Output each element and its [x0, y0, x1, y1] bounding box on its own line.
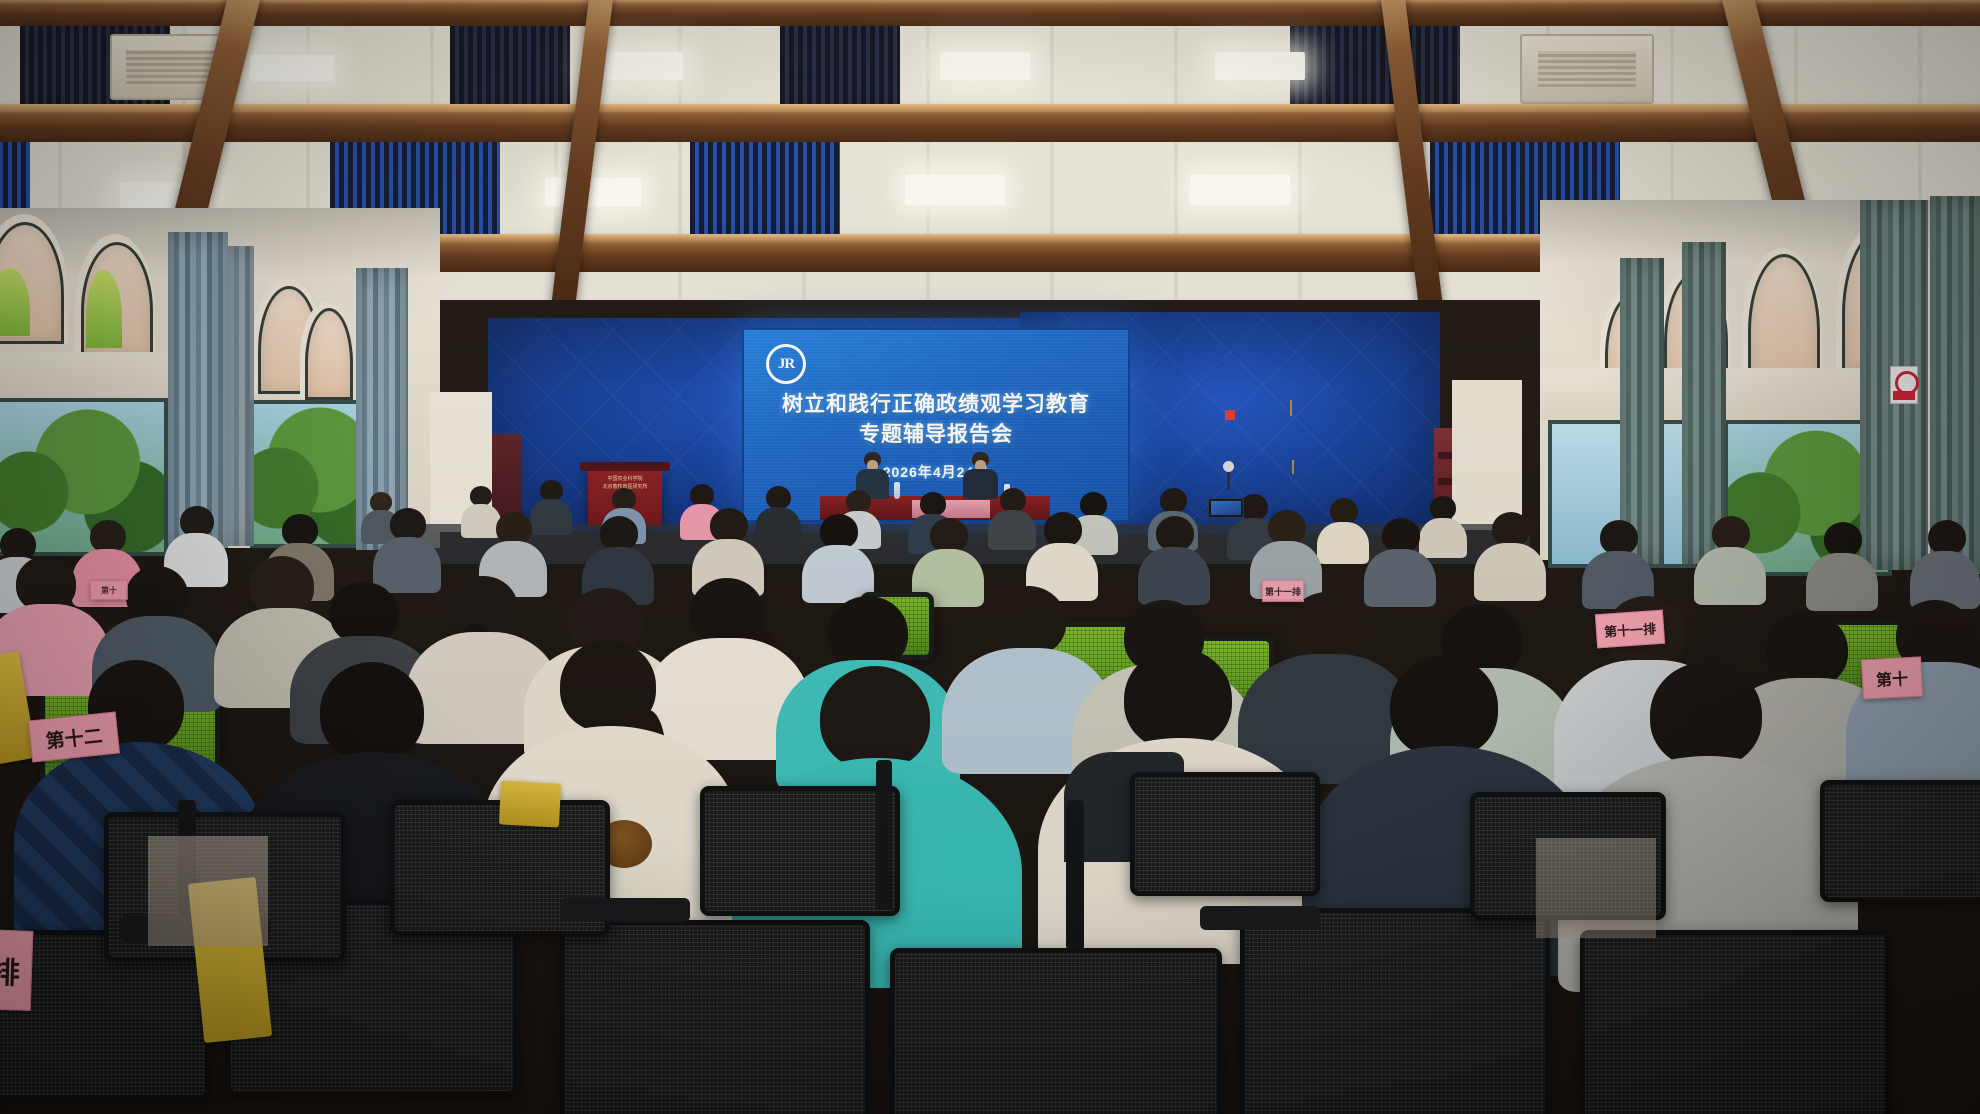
attendee-mid-11-head [1156, 516, 1194, 551]
attendee-mid-19-head [1928, 520, 1966, 555]
attendee-near-4-head [330, 582, 398, 644]
ceiling-beam-far [0, 0, 1980, 26]
ceiling-grille-blue-1 [690, 142, 840, 242]
stage-microphone [1227, 468, 1230, 490]
attendee-far-12-head [1330, 498, 1358, 524]
podium-org-line-1: 中国农业科学院 [588, 476, 662, 482]
attendee-fg-7-head [1650, 662, 1762, 768]
attendee-near-9-head [990, 586, 1066, 656]
attendee-mid-7-head [710, 508, 748, 543]
right-curtain-4[interactable] [1930, 196, 1980, 574]
row-sign-eleven: 第十一排 [1595, 610, 1665, 649]
attendee-mid-16-body [1694, 547, 1766, 605]
attendee-fg-6-head [1390, 656, 1498, 758]
attendee-far-9-head [1080, 492, 1107, 517]
left-curtain-2[interactable] [228, 246, 254, 546]
ceiling-grille-1a [780, 26, 900, 112]
ceiling-beam-2-highlight [0, 104, 1980, 112]
attendee-mid-14-head [1492, 512, 1530, 547]
attendee-near-3-head [250, 556, 314, 616]
chair-mid-4[interactable] [1130, 772, 1320, 896]
podium-top-surface [580, 462, 670, 471]
attendee-mid-9-head [930, 518, 968, 553]
attendee-near-14-head [1766, 612, 1848, 688]
attendee-phone-recording[interactable] [1208, 498, 1244, 518]
attendee-fg-5-head [1124, 648, 1232, 750]
attendee-mid-13-body [1364, 549, 1436, 607]
row-sign-partial: 排 [0, 929, 33, 1011]
attendee-far-11-head [1240, 494, 1268, 520]
attendee-far-2-head [540, 480, 563, 501]
chair-armrest-2 [560, 898, 690, 922]
attendee-mid-11-body [1138, 547, 1210, 605]
row-sign-far-1: 第十一排 [1262, 580, 1304, 602]
ceiling-panel-light-5 [905, 175, 1005, 205]
attendee-far-2-body [530, 499, 572, 535]
speaker-2-body [963, 469, 998, 499]
attendee-far-4-head [690, 484, 714, 506]
attendee-far-7-head [920, 492, 946, 516]
attendee-mid-17-body [1806, 553, 1878, 611]
attendee-far-1-body [461, 504, 501, 538]
ceiling-panel-light-2 [1215, 52, 1305, 80]
ceiling-ac-unit-1 [1520, 34, 1654, 104]
no-smoking-icon [1890, 366, 1918, 404]
attendee-mid-8-head [820, 514, 858, 549]
chair-near-4[interactable] [890, 948, 1222, 1114]
ceiling-panel-light-1 [940, 52, 1030, 80]
attendee-mid-16-head [1712, 516, 1750, 551]
right-curtain-2[interactable] [1682, 242, 1726, 564]
ceiling-panel-light-3 [595, 52, 683, 80]
wall-fitting-1 [1290, 400, 1292, 416]
conference-hall-photo: JR 树立和践行正确政绩观学习教育 专题辅导报告会 2026年4月24日 中国农… [0, 0, 1980, 1114]
wall-fitting-2 [1292, 460, 1294, 474]
chair-post-2 [876, 760, 892, 910]
row-sign-far-2: 第十 [90, 580, 128, 600]
attendee-near-8-head [828, 596, 908, 670]
ceiling-panel-light-6 [1190, 175, 1290, 205]
screen-date-text: 2026年4月24日 [744, 462, 1128, 482]
floor-visible-2 [1536, 838, 1656, 938]
attendee-fg-2-head [320, 662, 424, 762]
left-curtain-1[interactable] [168, 232, 228, 548]
row-sign-ten: 第十 [1861, 656, 1923, 699]
attendee-far-10-head [1160, 488, 1187, 513]
chair-armrest-3 [1200, 906, 1320, 930]
chair-mid-6[interactable] [1820, 780, 1980, 902]
screen-title-line-1: 树立和践行正确政绩观学习教育 [744, 388, 1128, 418]
ceiling-panel-light-4 [250, 55, 334, 81]
ceiling-grille-1b [1290, 26, 1460, 112]
wall-red-marker [1225, 410, 1235, 420]
attendee-mid-6-head [600, 516, 638, 551]
attendee-mid-15-head [1600, 520, 1638, 555]
ceiling-beam-2 [0, 108, 1980, 142]
chair-near-6[interactable] [1580, 930, 1890, 1114]
attendee-far-14-head [1430, 496, 1456, 520]
attendee-far-6-head [846, 490, 871, 513]
attendee-far-12-body [1317, 522, 1369, 564]
attendee-mid-12-head [1268, 510, 1306, 545]
attendee-mid-4-body [373, 537, 441, 593]
chair-near-5[interactable] [1240, 908, 1550, 1114]
attendee-fg-4-head [820, 666, 930, 770]
attendee-far-14-body [1419, 518, 1467, 558]
tablet-arm-2[interactable] [499, 780, 561, 827]
floor-visible-1 [148, 836, 268, 946]
chair-near-3[interactable] [560, 920, 870, 1114]
attendee-mid-13-head [1382, 518, 1420, 553]
attendee-mid-17-head [1824, 522, 1862, 557]
attendee-far-3-head [612, 488, 636, 510]
attendee-far-8-body [988, 510, 1036, 550]
head-table-bottle-1 [894, 482, 900, 499]
attendee-far-13-head [370, 492, 392, 512]
screen-title-line-2: 专题辅导报告会 [744, 418, 1128, 448]
attendee-far-1-head [470, 486, 492, 506]
attendee-far-5-head [766, 486, 791, 509]
right-curtain-1[interactable] [1620, 258, 1664, 564]
attendee-far-8-head [1000, 488, 1026, 512]
chair-mid-3[interactable] [700, 786, 900, 916]
attendee-mid-14-body [1474, 543, 1546, 601]
attendee-mid-10-head [1044, 512, 1082, 547]
institution-emblem-icon: JR [766, 344, 806, 384]
stage-right-pillar [1452, 380, 1522, 530]
ceiling-panel-light-7 [545, 178, 641, 206]
chair-post-3 [1066, 800, 1084, 950]
attendee-far-5-body [755, 507, 801, 545]
ceiling-grille-1c [450, 26, 570, 112]
